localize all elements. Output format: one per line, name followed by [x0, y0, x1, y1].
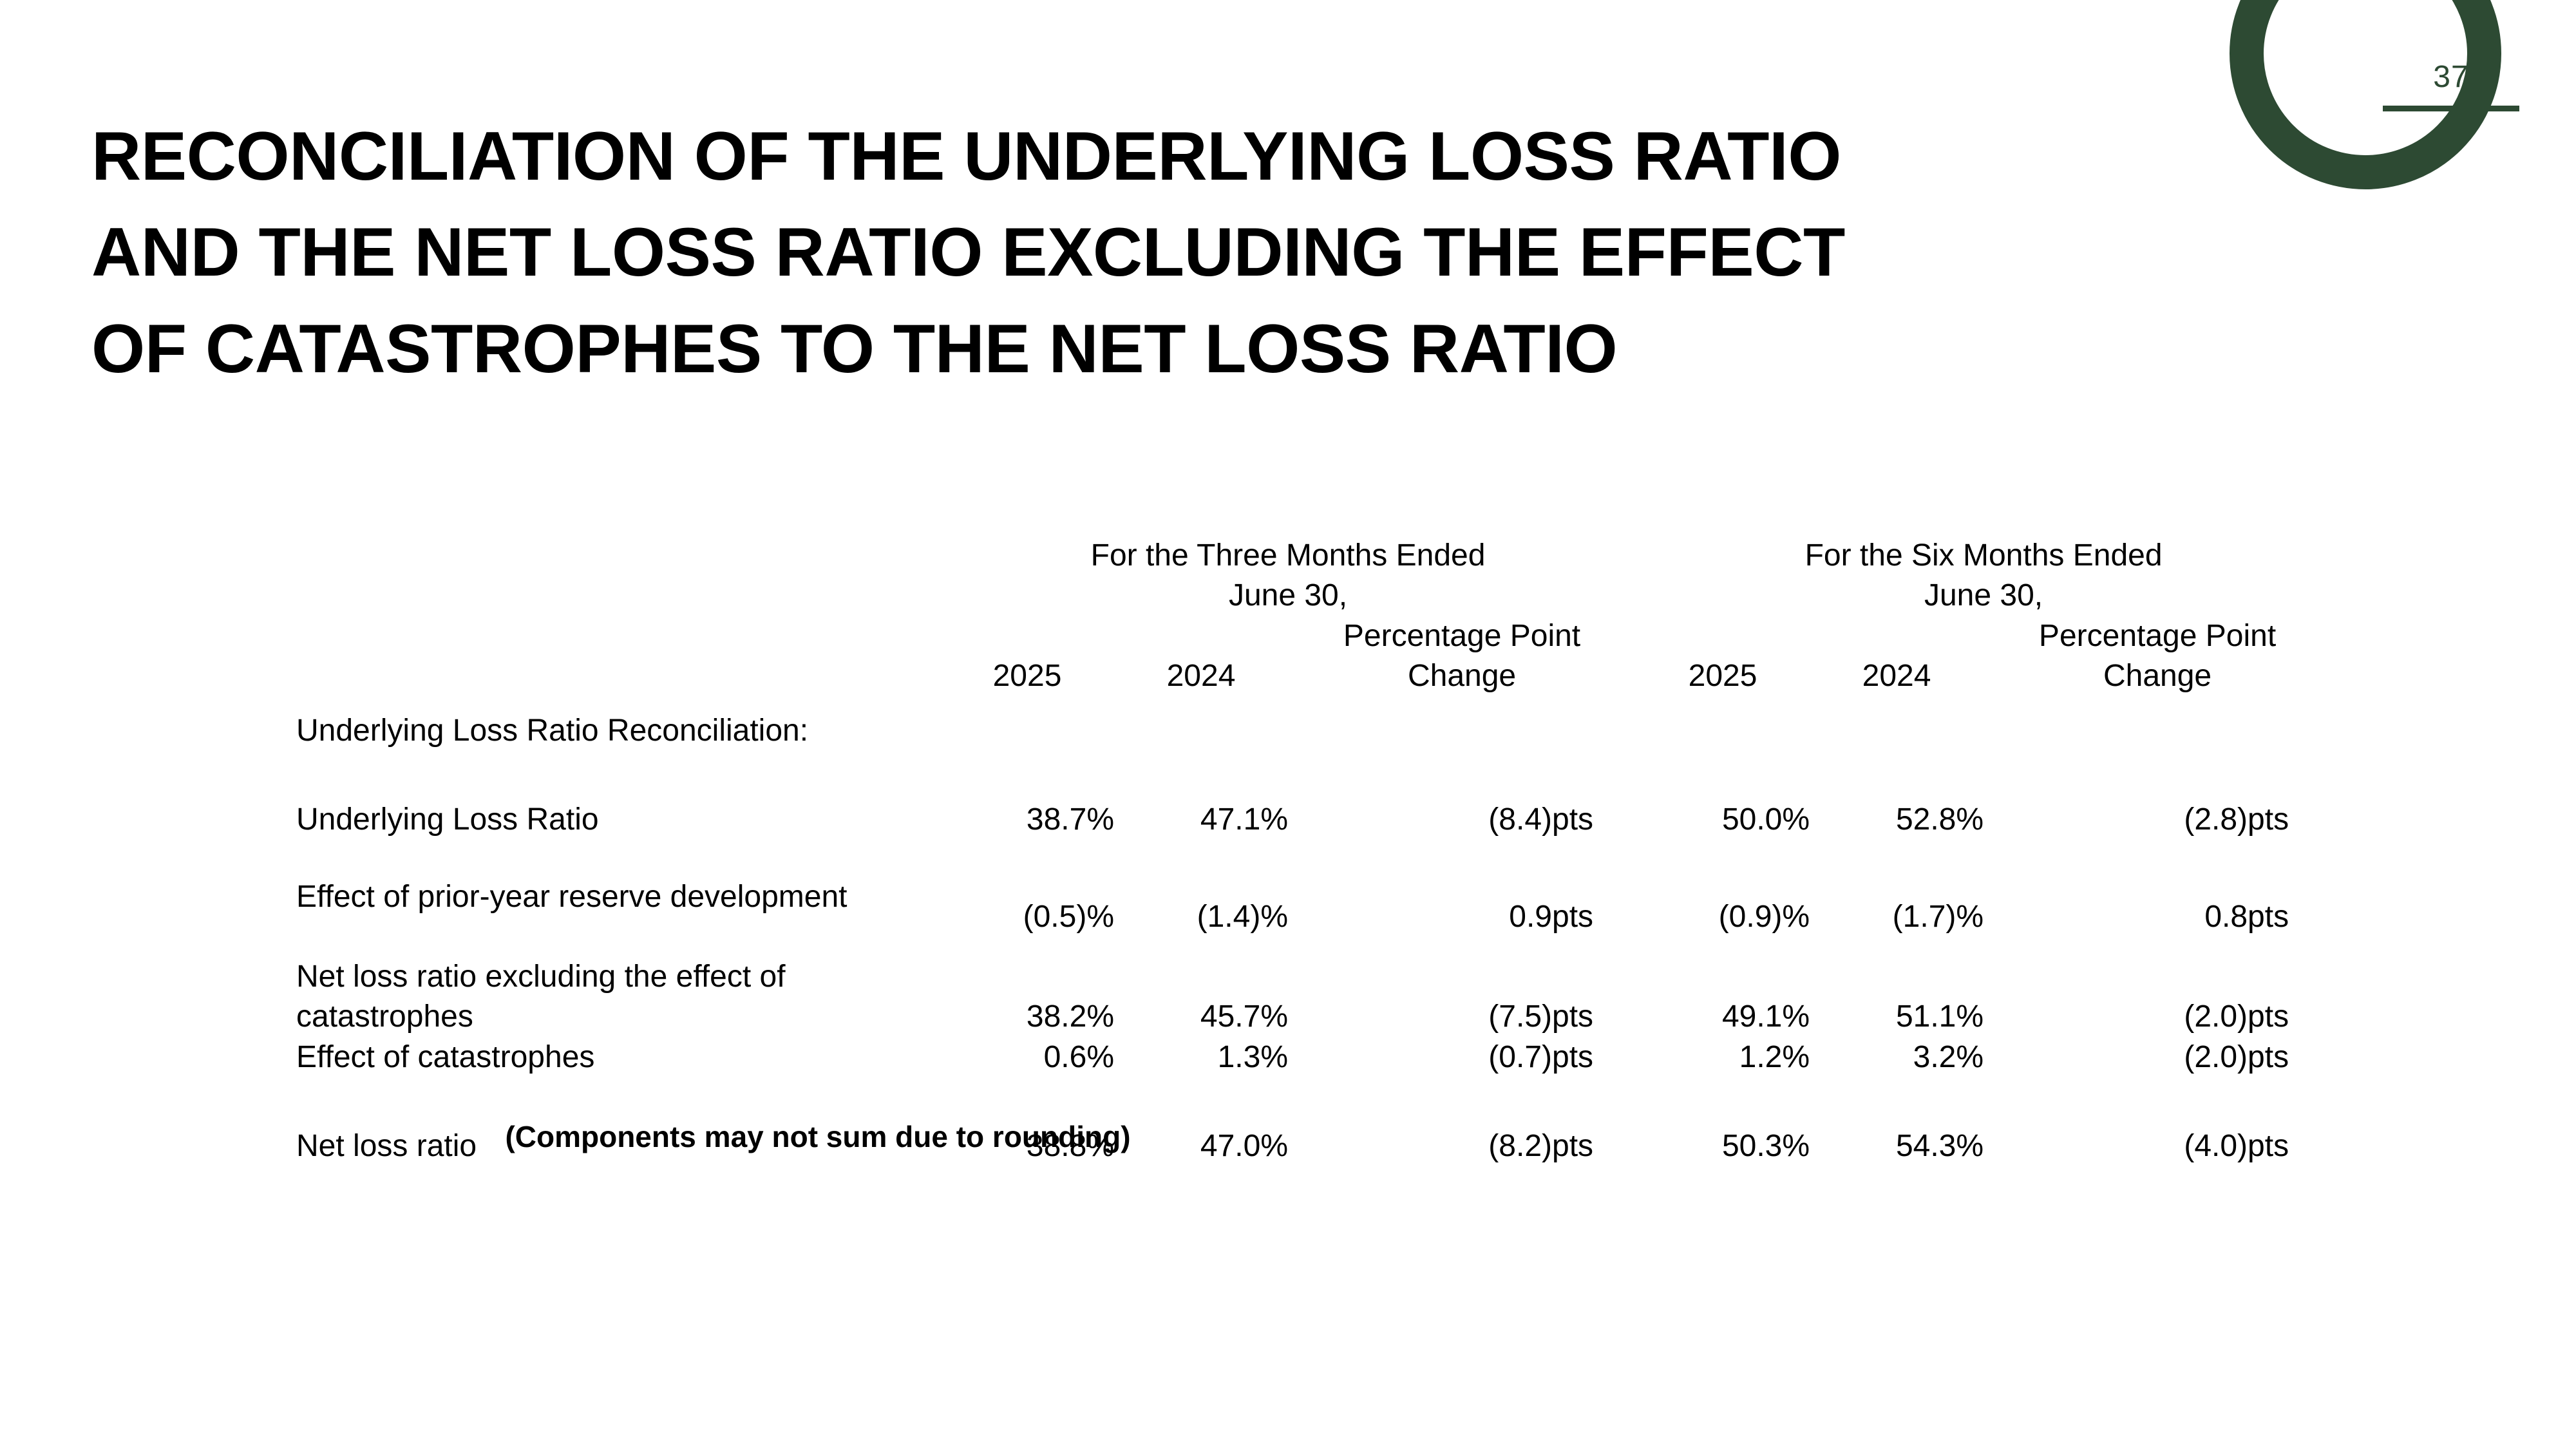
empty-corner-cell-3 [296, 616, 940, 697]
page-number: 37 [2383, 62, 2519, 93]
row-label: Underlying Loss Ratio [296, 788, 940, 840]
cell-six-2024: 3.2% [1810, 1037, 1984, 1077]
table-row: Effect of prior-year reserve development… [296, 877, 2331, 957]
cell-three-pts: pts [1552, 957, 1636, 1037]
table-column-header-row: 2025 2024 Percentage Point Change 2025 2… [296, 616, 2331, 697]
loss-ratio-reconciliation-table: For the Three Months Ended For the Six M… [296, 536, 2331, 1166]
col-header-six-2024: 2024 [1810, 616, 1984, 697]
cell-three-2024: (1.4)% [1114, 877, 1288, 957]
page-number-block: 37 [2383, 62, 2519, 111]
col-header-six-change-line1: Percentage Point [1984, 616, 2331, 656]
empty-corner-cell [296, 536, 940, 576]
cell-six-change: (2.0) [1984, 1037, 2248, 1077]
row-label: Effect of prior-year reserve development [296, 877, 940, 957]
cell-three-change: 0.9 [1288, 877, 1552, 957]
col-header-three-2024: 2024 [1114, 616, 1288, 697]
page-number-rule [2383, 106, 2519, 111]
cell-three-pts: pts [1552, 788, 1636, 840]
cell-three-change: (7.5) [1288, 957, 1552, 1037]
cell-three-pts: pts [1552, 877, 1636, 957]
cell-six-2024: 52.8% [1810, 788, 1984, 840]
cell-six-2024: 51.1% [1810, 957, 1984, 1037]
cell-six-pts: pts [2248, 1037, 2331, 1077]
table-row: Net loss ratio excluding the effect of c… [296, 957, 2331, 1037]
spacer-row-3 [296, 1077, 2331, 1115]
col-header-three-2025: 2025 [940, 616, 1114, 697]
col-header-six-change: Percentage Point Change [1984, 616, 2331, 697]
group-subheading-three-months: June 30, [940, 576, 1636, 616]
cell-three-2025: (0.5)% [940, 877, 1114, 957]
section-title-filler [940, 697, 2331, 751]
table-group-subheading-row: June 30, June 30, [296, 576, 2331, 616]
cell-three-pts: pts [1552, 1115, 1636, 1166]
table-row: Underlying Loss Ratio 38.7% 47.1% (8.4) … [296, 788, 2331, 840]
cell-six-change: (2.0) [1984, 957, 2248, 1037]
cell-three-change: (8.4) [1288, 788, 1552, 840]
col-header-three-change: Percentage Point Change [1288, 616, 1636, 697]
cell-six-2024: (1.7)% [1810, 877, 1984, 957]
cell-three-2025: 38.7% [940, 788, 1114, 840]
table-group-heading-row: For the Three Months Ended For the Six M… [296, 536, 2331, 576]
cell-three-pts: pts [1552, 1037, 1636, 1077]
cell-six-2024: 54.3% [1810, 1115, 1984, 1166]
empty-corner-cell-2 [296, 576, 940, 616]
page-title: RECONCILIATION OF THE UNDERLYING LOSS RA… [91, 108, 2088, 397]
cell-six-pts: pts [2248, 788, 2331, 840]
cell-six-change: (4.0) [1984, 1115, 2248, 1166]
spacer-row-2 [296, 840, 2331, 877]
cell-three-2024: 45.7% [1114, 957, 1288, 1037]
cell-six-pts: pts [2248, 957, 2331, 1037]
cell-three-2024: 1.3% [1114, 1037, 1288, 1077]
spacer-row-1 [296, 751, 2331, 788]
cell-six-2025: 50.3% [1636, 1115, 1810, 1166]
row-label: Net loss ratio excluding the effect of c… [296, 957, 940, 1037]
cell-six-2025: 1.2% [1636, 1037, 1810, 1077]
cell-six-change: 0.8 [1984, 877, 2248, 957]
col-header-six-2025: 2025 [1636, 616, 1810, 697]
group-heading-six-months: For the Six Months Ended [1636, 536, 2331, 576]
cell-six-pts: pts [2248, 1115, 2331, 1166]
cell-three-2025: 38.2% [940, 957, 1114, 1037]
cell-three-2025: 0.6% [940, 1037, 1114, 1077]
cell-three-2024: 47.1% [1114, 788, 1288, 840]
table-row: Effect of catastrophes 0.6% 1.3% (0.7) p… [296, 1037, 2331, 1077]
cell-six-2025: 50.0% [1636, 788, 1810, 840]
cell-three-change: (0.7) [1288, 1037, 1552, 1077]
rounding-footnote: (Components may not sum due to rounding) [296, 1119, 1340, 1154]
row-label: Effect of catastrophes [296, 1037, 940, 1077]
cell-six-change: (2.8) [1984, 788, 2248, 840]
section-title: Underlying Loss Ratio Reconciliation: [296, 697, 940, 751]
table-section-title-row: Underlying Loss Ratio Reconciliation: [296, 697, 2331, 751]
col-header-three-change-line2: Change [1288, 656, 1636, 696]
group-heading-three-months: For the Three Months Ended [940, 536, 1636, 576]
col-header-three-change-line1: Percentage Point [1288, 616, 1636, 656]
cell-six-2025: (0.9)% [1636, 877, 1810, 957]
cell-six-pts: pts [2248, 877, 2331, 957]
group-subheading-six-months: June 30, [1636, 576, 2331, 616]
col-header-six-change-line2: Change [1984, 656, 2331, 696]
cell-six-2025: 49.1% [1636, 957, 1810, 1037]
